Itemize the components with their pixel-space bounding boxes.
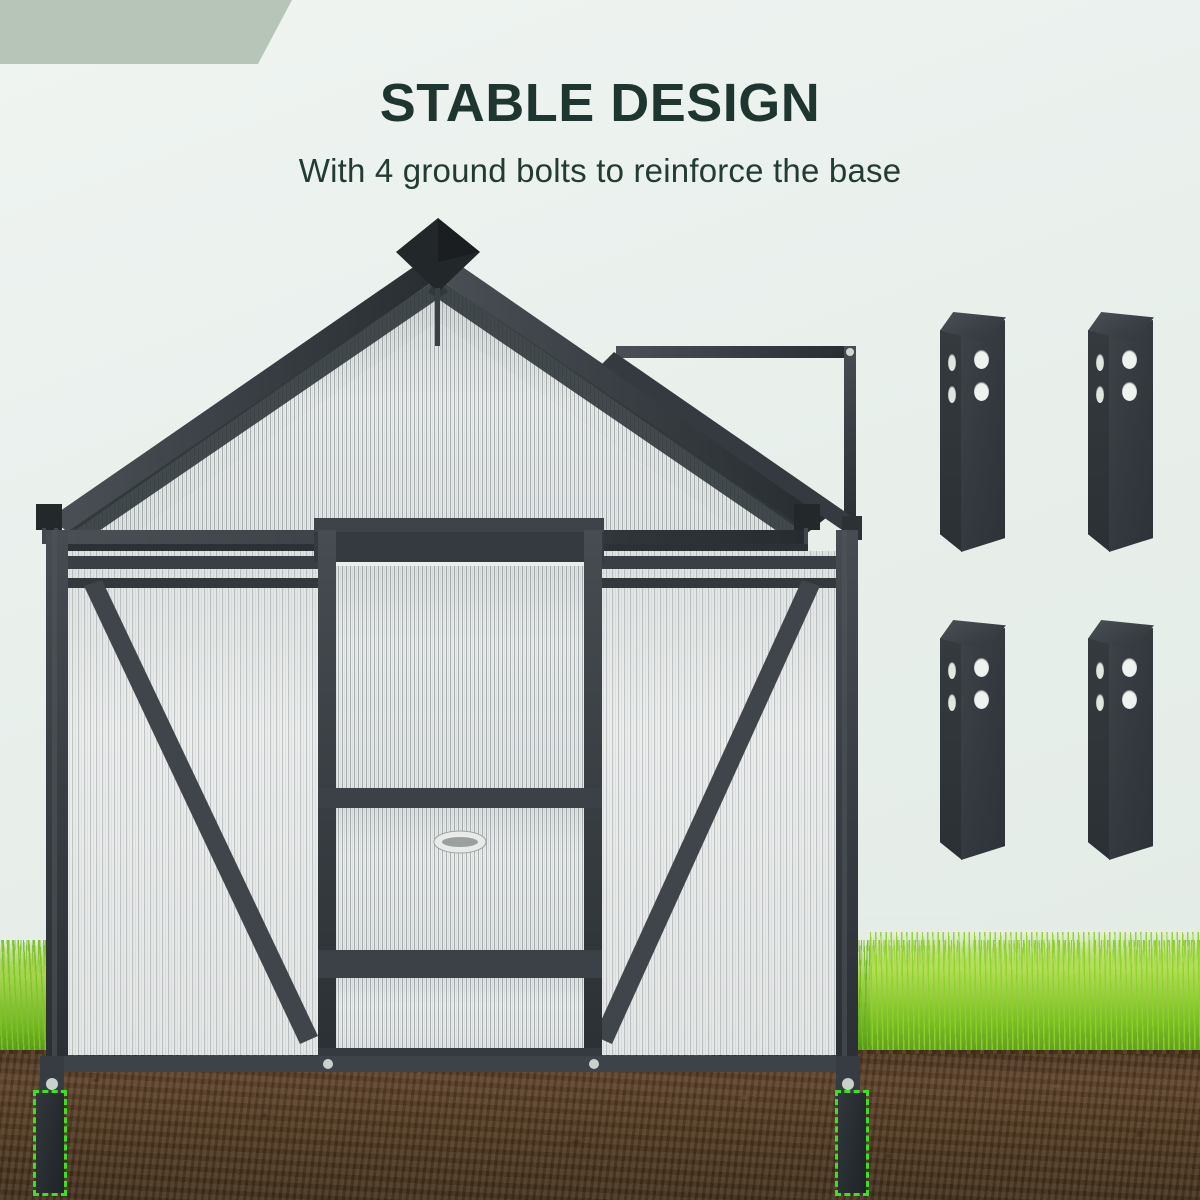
eave-cap-left-pin: [42, 528, 46, 544]
door-brand-badge: [434, 831, 486, 853]
ground-bolt-4: [1088, 620, 1162, 860]
door-header-beam: [314, 518, 604, 532]
door-glass-upper: [336, 566, 584, 790]
ridge-center-post: [435, 288, 440, 346]
ground-bolt-hole-left-upper: [1096, 354, 1104, 371]
ground-bolt-hole-left-lower: [948, 694, 956, 711]
ground-bolt-hole-right-upper: [1122, 658, 1137, 677]
buried-ground-bolt-right: [838, 1093, 866, 1193]
wall-rail-left-upper: [58, 556, 334, 569]
ground-bolt-hole-left-upper: [948, 662, 956, 679]
ground-bolt-1: [940, 312, 1014, 552]
ground-bolt-hole-right-upper: [974, 658, 989, 677]
ground-bolt-hole-left-lower: [1096, 386, 1104, 403]
page-subtitle: With 4 ground bolts to reinforce the bas…: [0, 152, 1200, 190]
scene-root: STABLE DESIGN With 4 ground bolts to rei…: [0, 0, 1200, 1200]
door-rail-lower: [318, 950, 602, 978]
ground-bolt-hole-left-lower: [948, 386, 956, 403]
ground-bolt-hole-right-upper: [974, 350, 989, 369]
roof-vent-pivot-bolt: [846, 348, 854, 356]
ground-bolt-hole-right-upper: [1122, 350, 1137, 369]
base-bolt-center-left: [323, 1059, 333, 1069]
corner-banner-decoration: [0, 0, 300, 64]
greenhouse-svg: [18, 200, 898, 1110]
ground-bolt-hole-right-lower: [1122, 690, 1137, 709]
base-bolt-right-upper: [842, 1078, 854, 1090]
eave-cap-left: [36, 504, 62, 530]
base-frame-top: [40, 1056, 860, 1072]
buried-ground-bolt-left: [36, 1093, 64, 1193]
door-rail-middle: [318, 788, 602, 808]
page-title: STABLE DESIGN: [0, 72, 1200, 134]
door-glass-middle: [336, 806, 584, 952]
base-bolt-center-right: [589, 1059, 599, 1069]
door-header-panel: [314, 532, 604, 562]
door-glass-lower: [336, 978, 584, 1054]
wall-rail-right-upper: [584, 556, 846, 569]
grass-right-foreground: [870, 932, 1200, 1060]
base-bolt-left-upper: [46, 1078, 58, 1090]
ground-bolt-hole-left-lower: [1096, 694, 1104, 711]
ground-bolt-2: [1088, 312, 1162, 552]
eave-cap-right: [794, 504, 820, 530]
roof-vent-top-rail: [616, 346, 854, 358]
ground-bolt-hole-right-lower: [1122, 382, 1137, 401]
corner-post-left-highlight: [52, 530, 57, 1058]
corner-post-right-highlight: [842, 530, 847, 1058]
ground-bolt-hole-right-lower: [974, 382, 989, 401]
ground-bolt-hole-right-lower: [974, 690, 989, 709]
buried-bolt-highlight-outline: [835, 1090, 869, 1196]
ground-bolt-hole-left-upper: [948, 354, 956, 371]
buried-bolt-highlight-outline: [33, 1090, 67, 1196]
eave-cap-right-pin: [804, 528, 808, 544]
greenhouse-illustration: [18, 200, 898, 1110]
ground-bolt-3: [940, 620, 1014, 860]
ground-bolt-hole-left-upper: [1096, 662, 1104, 679]
roof-vent-strut: [844, 346, 856, 522]
